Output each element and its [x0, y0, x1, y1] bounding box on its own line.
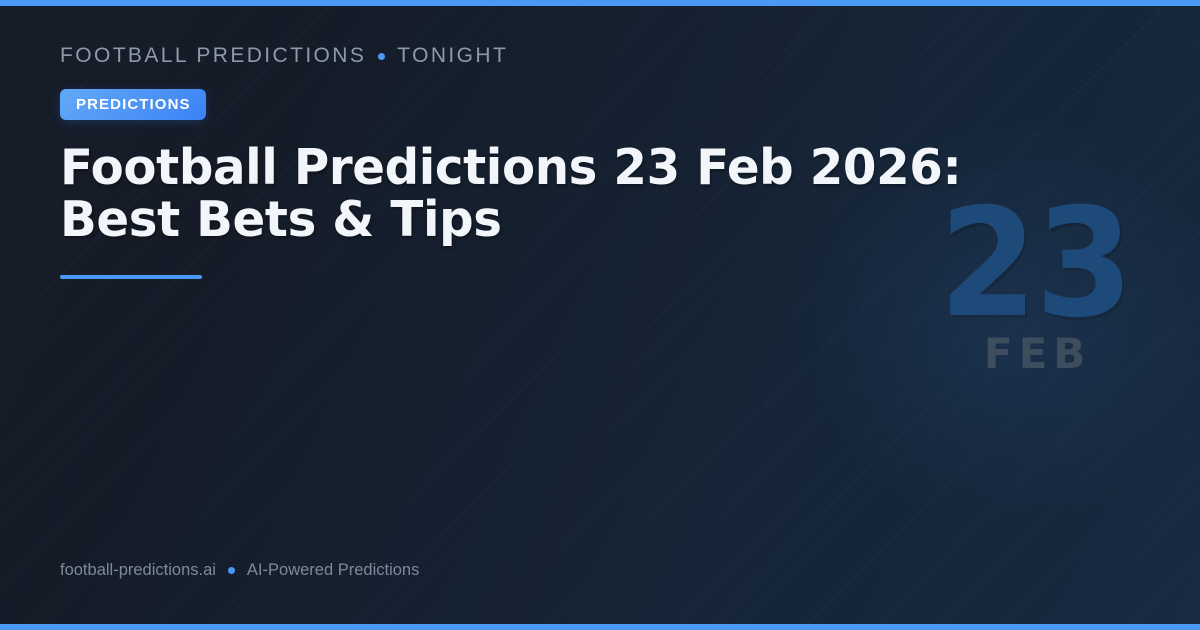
footer-tagline: AI-Powered Predictions: [247, 561, 419, 580]
layout-spacer: [60, 279, 1140, 561]
blue-dot-icon: [378, 53, 385, 60]
card-content: FOOTBALL PREDICTIONS TONIGHT PREDICTIONS…: [0, 0, 1200, 630]
blue-dot-icon: [228, 567, 235, 574]
top-accent-bar: [0, 0, 1200, 6]
footer: football-predictions.ai AI-Powered Predi…: [60, 561, 1140, 580]
eyebrow: FOOTBALL PREDICTIONS TONIGHT: [60, 44, 1140, 68]
og-share-card: 23 FEB FOOTBALL PREDICTIONS TONIGHT PRED…: [0, 0, 1200, 630]
bottom-accent-bar: [0, 624, 1200, 630]
page-title: Football Predictions 23 Feb 2026: Best B…: [60, 142, 1055, 246]
footer-site: football-predictions.ai: [60, 561, 216, 580]
status-badge: PREDICTIONS: [60, 89, 206, 120]
eyebrow-category: FOOTBALL PREDICTIONS: [60, 44, 366, 68]
eyebrow-timing: TONIGHT: [397, 44, 508, 68]
